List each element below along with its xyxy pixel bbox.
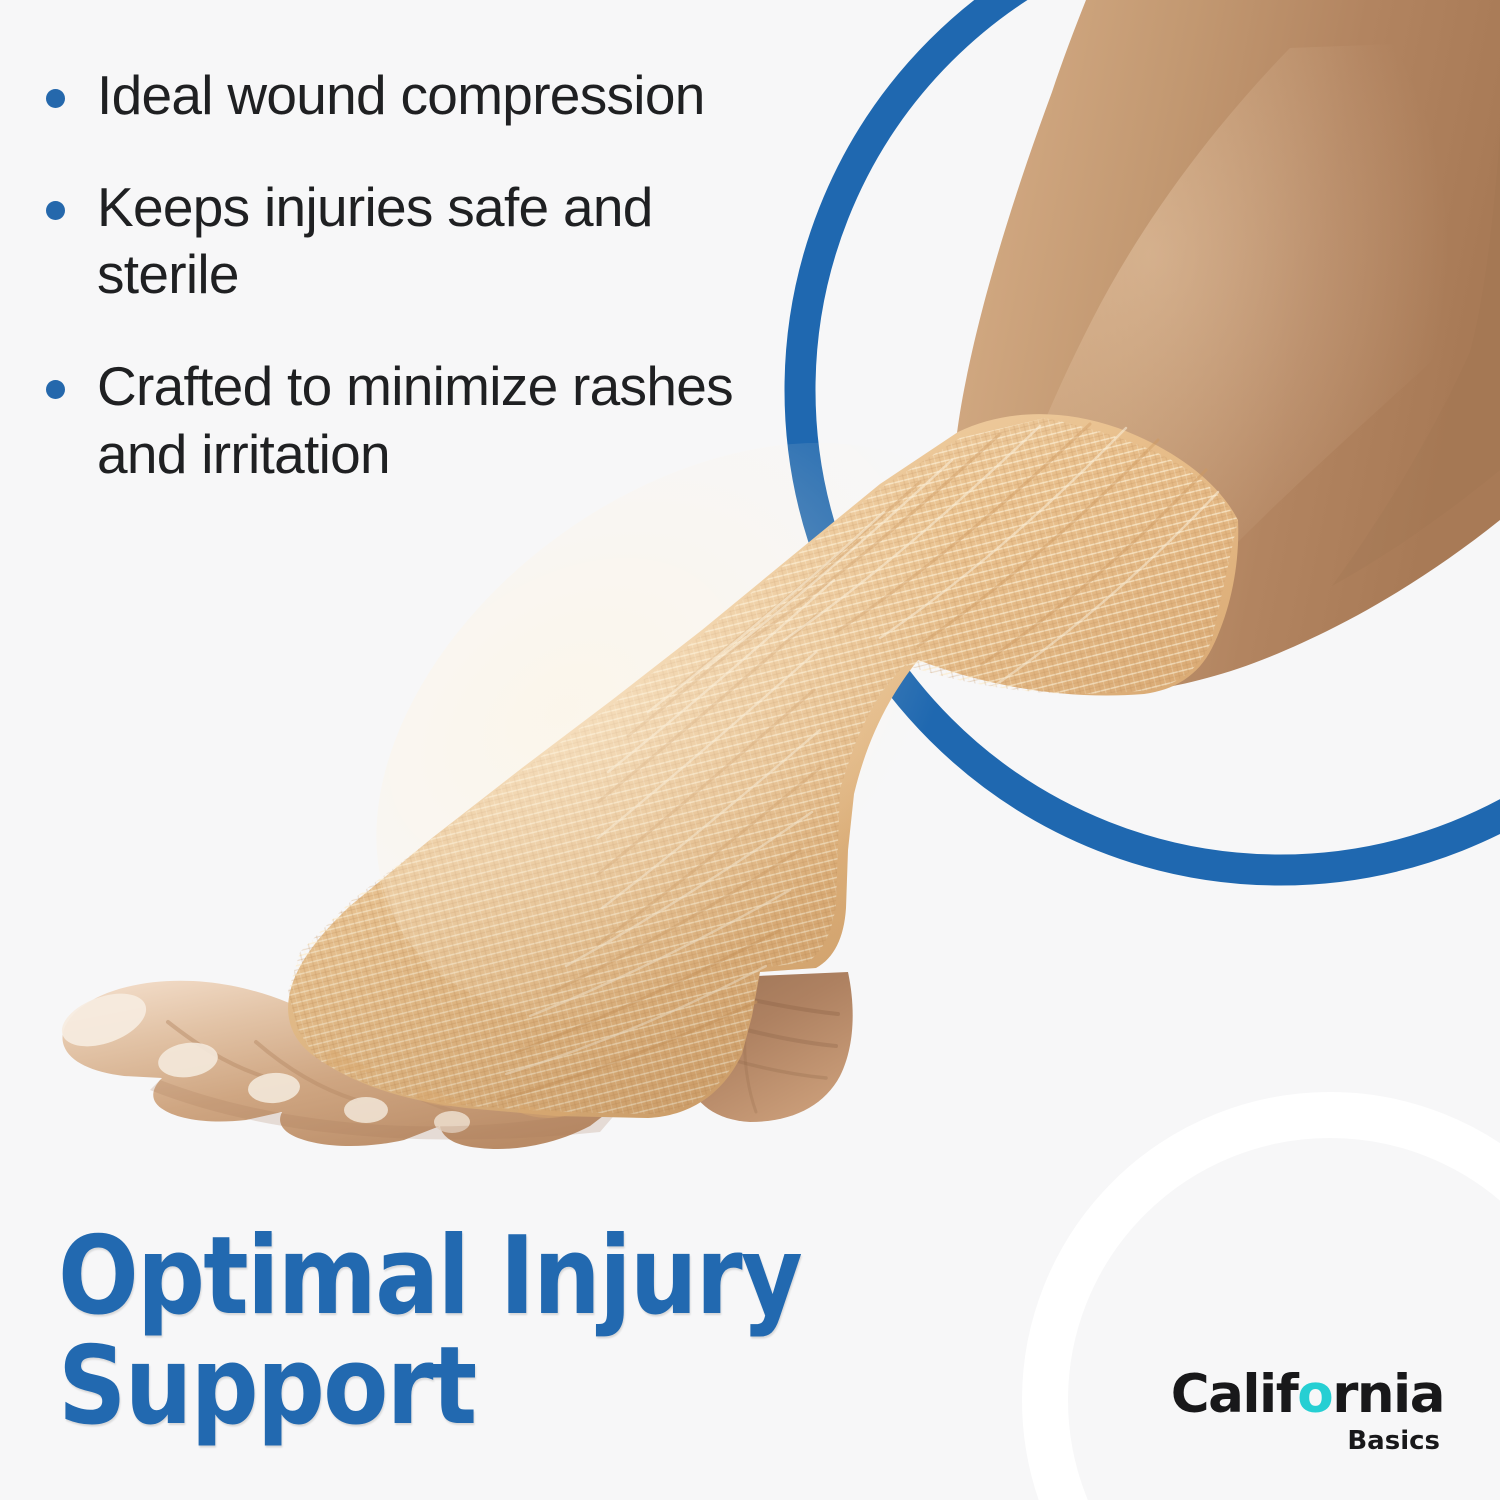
list-item: Crafted to minimize rashes and irritatio… [46,353,766,488]
logo-teal-o-icon: o [1297,1364,1332,1425]
page-title: Optimal Injury Support [58,1222,801,1442]
bullet-dot-icon [46,201,65,220]
bullet-text: Crafted to minimize rashes and irritatio… [97,353,737,488]
bullet-text: Ideal wound compression [97,62,705,130]
bullet-dot-icon [46,380,65,399]
list-item: Keeps injuries safe and sterile [46,174,766,309]
list-item: Ideal wound compression [46,62,766,130]
logo-name-before-o: Calif [1171,1364,1298,1425]
product-marketing-image: Ideal wound compression Keeps injuries s… [0,0,1500,1500]
logo-tagline: Basics [1171,1428,1440,1454]
bullet-text: Keeps injuries safe and sterile [97,174,737,309]
logo-wordmark: California [1171,1368,1444,1421]
feature-bullet-list: Ideal wound compression Keeps injuries s… [46,62,766,532]
headline-line-1: Optimal Injury [58,1222,801,1332]
brand-logo: California Basics [1171,1368,1444,1454]
headline-line-2: Support [58,1332,801,1442]
bullet-dot-icon [46,89,65,108]
logo-name-after-o: rnia [1332,1364,1444,1425]
